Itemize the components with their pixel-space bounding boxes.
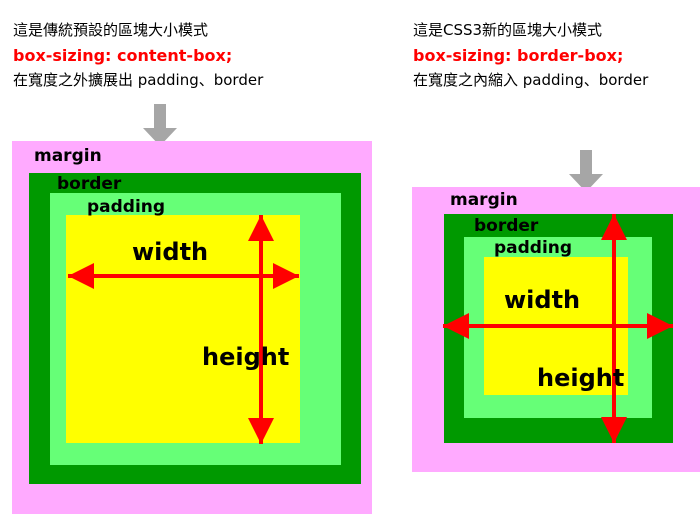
- diagram-canvas: 這是傳統預設的區塊大小模式 box-sizing: content-box; 在…: [0, 0, 700, 514]
- arrow-head-down: [601, 417, 627, 443]
- caption-content-box: 這是傳統預設的區塊大小模式 box-sizing: content-box; 在…: [13, 18, 263, 93]
- height-label: height: [202, 344, 289, 370]
- measure-line: [443, 324, 673, 328]
- arrow-head-up: [248, 215, 274, 241]
- caption-code-line: box-sizing: border-box;: [413, 43, 648, 68]
- border-label: border: [474, 217, 538, 236]
- arrow-head-right: [273, 263, 299, 289]
- down-arrow-icon: [143, 104, 177, 146]
- height-measure-arrow: [601, 214, 627, 443]
- width-label: width: [132, 239, 208, 265]
- height-measure-arrow: [248, 215, 274, 444]
- box-model-diagram-content-box: margin border padding width height: [12, 141, 372, 514]
- padding-label: padding: [494, 239, 572, 258]
- border-label: border: [57, 175, 121, 194]
- caption-border-box: 這是CSS3新的區塊大小模式 box-sizing: border-box; 在…: [413, 18, 648, 93]
- margin-label: margin: [34, 147, 102, 166]
- arrow-head-left: [68, 263, 94, 289]
- caption-intro-line: 這是CSS3新的區塊大小模式: [413, 18, 648, 43]
- width-label: width: [504, 287, 580, 313]
- caption-code-line: box-sizing: content-box;: [13, 43, 263, 68]
- arrow-shaft: [580, 150, 592, 176]
- caption-note-line: 在寬度之內縮入 padding、border: [413, 68, 648, 93]
- caption-intro-line: 這是傳統預設的區塊大小模式: [13, 18, 263, 43]
- margin-label: margin: [450, 191, 518, 210]
- measure-line: [612, 214, 616, 443]
- caption-note-line: 在寬度之外擴展出 padding、border: [13, 68, 263, 93]
- arrow-shaft: [154, 104, 166, 130]
- down-arrow-icon: [569, 150, 603, 192]
- box-model-diagram-border-box: margin border padding width height: [412, 187, 700, 472]
- arrow-head-up: [601, 214, 627, 240]
- arrow-head-right: [647, 313, 673, 339]
- measure-line: [259, 215, 263, 444]
- arrow-head-left: [443, 313, 469, 339]
- padding-label: padding: [87, 198, 165, 217]
- width-measure-arrow: [443, 313, 673, 339]
- height-label: height: [537, 365, 624, 391]
- arrow-head-down: [248, 418, 274, 444]
